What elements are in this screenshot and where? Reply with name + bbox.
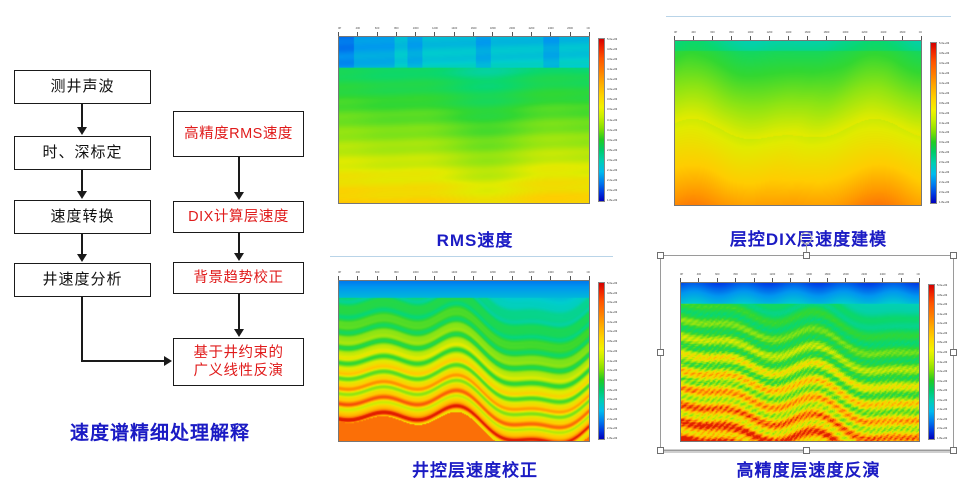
flow-box-background-trend-correction[interactable]: 背景趋势校正: [173, 262, 304, 294]
plot-area: [338, 280, 590, 442]
flow-box-label: 背景趋势校正: [174, 270, 303, 286]
x-axis-ticks: CDP4006008001000120014001600180020002200…: [674, 26, 922, 40]
colorbar-labels: 5.0e+034.8e+034.6e+034.4e+034.2e+034.0e+…: [939, 42, 955, 204]
flow-box-label-line2: 广义线性反演: [174, 362, 303, 380]
figure-layer-controlled-dix[interactable]: CDP4006008001000120014001600180020002200…: [666, 26, 951, 218]
selection-handle-bottom-left[interactable]: [657, 447, 664, 454]
figure-well-controlled-correction[interactable]: CDP4006008001000120014001600180020002200…: [330, 266, 620, 452]
flow-box-well-constrained-inversion[interactable]: 基于井约束的 广义线性反演: [173, 338, 304, 386]
selection-rectangle[interactable]: [660, 255, 954, 451]
divider-top-right: [666, 16, 951, 17]
colorbar: 5.0e+034.8e+034.6e+034.4e+034.2e+034.0e+…: [598, 38, 622, 202]
connector-l2-l3: [81, 170, 83, 192]
plot-well-controlled-correction: CDP4006008001000120014001600180020002200…: [330, 266, 620, 452]
colorbar-labels: 5.0e+034.8e+034.6e+034.4e+034.2e+034.0e+…: [607, 38, 623, 202]
connector-r2-r3: [238, 233, 240, 254]
selection-handle-top-center[interactable]: [803, 252, 810, 259]
arrowhead-l2-l3: [77, 191, 87, 199]
selection-handle-top-right[interactable]: [950, 252, 957, 259]
divider-bottom-left: [330, 256, 613, 257]
selection-handle-bottom-center[interactable]: [803, 447, 810, 454]
connector-l4-elbow-vertical: [81, 297, 83, 361]
flow-box-time-depth-calibration[interactable]: 时、深标定: [14, 136, 151, 170]
flow-box-label: 时、深标定: [15, 145, 150, 162]
arrowhead-r2-r3: [234, 253, 244, 261]
figure-rms-velocity[interactable]: CDP4006008001000120014001600180020002200…: [330, 22, 620, 217]
colorbar: 5.0e+034.8e+034.6e+034.4e+034.2e+034.0e+…: [930, 42, 954, 204]
figure-caption-well-controlled-correction: 井控层速度校正: [330, 456, 620, 481]
slide-canvas: 测井声波 时、深标定 速度转换 井速度分析 高精度RMS速度 DIX计算层速度: [0, 0, 960, 489]
flow-box-label-line1: 基于井约束的: [174, 344, 303, 362]
connector-r3-r4: [238, 294, 240, 330]
rotate-icon[interactable]: [800, 232, 812, 244]
flow-box-label: 高精度RMS速度: [174, 126, 303, 142]
plot-area: [674, 40, 922, 206]
flow-box-label: 井速度分析: [15, 272, 150, 289]
arrowhead-elbow-to-inversion: [164, 356, 172, 366]
plot-rms-velocity: CDP4006008001000120014001600180020002200…: [330, 22, 620, 217]
flowchart-caption: 速度谱精细处理解释: [0, 418, 320, 445]
colorbar-gradient: [930, 42, 937, 204]
colorbar-gradient: [598, 282, 605, 440]
x-axis-ticks: CDP4006008001000120014001600180020002200…: [338, 266, 590, 280]
selection-handle-middle-right[interactable]: [950, 349, 957, 356]
figure-caption-rms-velocity: RMS速度: [330, 226, 620, 251]
selection-handle-bottom-right[interactable]: [950, 447, 957, 454]
flow-box-label: 测井声波: [15, 79, 150, 96]
selection-handle-top-left[interactable]: [657, 252, 664, 259]
connector-l3-l4: [81, 234, 83, 255]
connector-l4-elbow-horizontal: [81, 360, 165, 362]
colorbar: 5.0e+034.8e+034.6e+034.4e+034.2e+034.0e+…: [598, 282, 622, 440]
arrowhead-r1-r2: [234, 192, 244, 200]
flow-box-velocity-conversion[interactable]: 速度转换: [14, 200, 151, 234]
connector-r1-r2: [238, 157, 240, 193]
rotation-handle-stem: [806, 243, 807, 252]
plot-area: [338, 36, 590, 204]
velocity-processing-flowchart: 测井声波 时、深标定 速度转换 井速度分析 高精度RMS速度 DIX计算层速度: [0, 0, 320, 489]
flow-box-well-velocity-analysis[interactable]: 井速度分析: [14, 263, 151, 297]
arrowhead-l1-l2: [77, 127, 87, 135]
colorbar-labels: 5.0e+034.8e+034.6e+034.4e+034.2e+034.0e+…: [607, 282, 623, 440]
flow-box-label: 速度转换: [15, 209, 150, 226]
flow-box-well-sonic-log[interactable]: 测井声波: [14, 70, 151, 104]
flow-box-label: DIX计算层速度: [174, 209, 303, 225]
arrowhead-l3-l4: [77, 254, 87, 262]
colorbar-gradient: [598, 38, 605, 202]
x-axis-ticks: CDP4006008001000120014001600180020002200…: [338, 22, 590, 36]
connector-l1-l2: [81, 104, 83, 128]
selection-handle-middle-left[interactable]: [657, 349, 664, 356]
flow-box-high-precision-rms-velocity[interactable]: 高精度RMS速度: [173, 111, 304, 157]
plot-layer-controlled-dix: CDP4006008001000120014001600180020002200…: [666, 26, 951, 218]
flow-box-dix-interval-velocity[interactable]: DIX计算层速度: [173, 201, 304, 233]
figure-caption-high-precision-inversion: 高精度层速度反演: [666, 456, 951, 481]
arrowhead-r3-r4: [234, 329, 244, 337]
